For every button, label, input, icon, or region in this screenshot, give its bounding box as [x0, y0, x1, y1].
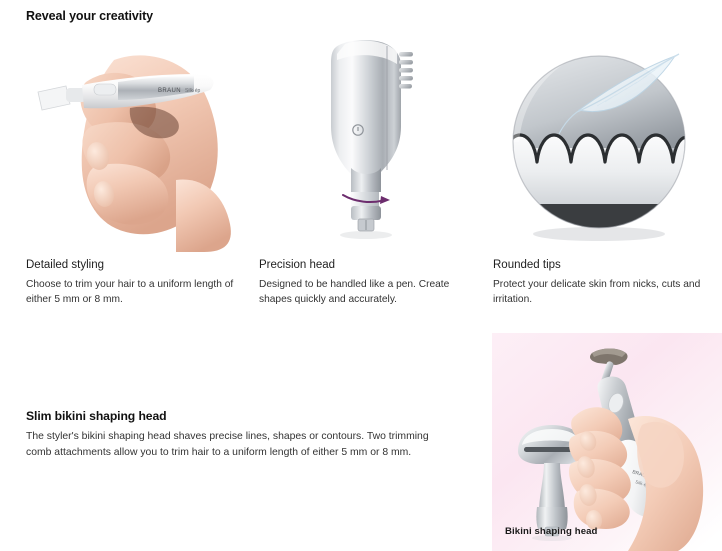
feature-column-detailed-styling: BRAUN Silk·ép [26, 30, 241, 252]
feature-column-precision-head [259, 30, 474, 252]
feature-column-rounded-tips [493, 30, 705, 252]
feature-body-rounded-tips: Protect your delicate skin from nicks, c… [493, 278, 705, 307]
product-feature-page: Reveal your creativity [0, 0, 722, 551]
svg-text:BRAUN: BRAUN [158, 88, 181, 94]
svg-text:Silk·ép: Silk·ép [185, 88, 201, 94]
feature-title-rounded-tips: Rounded tips [493, 259, 561, 271]
rounded-tips-illustration [493, 30, 705, 252]
bottom-section-body: The styler's bikini shaping head shaves … [26, 429, 446, 460]
bikini-shaping-head-with-hand-illustration: BRAUN Silk·épil [492, 333, 722, 551]
hand-holding-styler-pen-photo: BRAUN Silk·ép [26, 30, 241, 252]
feature-body-detailed-styling: Choose to trim your hair to a uniform le… [26, 278, 248, 307]
panel-caption: Bikini shaping head [505, 526, 598, 537]
feature-body-precision-head: Designed to be handled like a pen. Creat… [259, 278, 475, 307]
rounded-tips-sphere-photo [493, 30, 705, 252]
page-title: Reveal your creativity [26, 9, 153, 23]
hand-holding-styler-illustration: BRAUN Silk·ép [26, 30, 241, 252]
precision-head-attachment-photo [259, 30, 474, 252]
bottom-section-title: Slim bikini shaping head [26, 409, 167, 423]
bikini-shaping-head-panel: BRAUN Silk·épil Bikini shaping head [492, 333, 722, 551]
feature-title-detailed-styling: Detailed styling [26, 259, 104, 271]
precision-head-illustration [259, 30, 474, 252]
feature-title-precision-head: Precision head [259, 259, 335, 271]
